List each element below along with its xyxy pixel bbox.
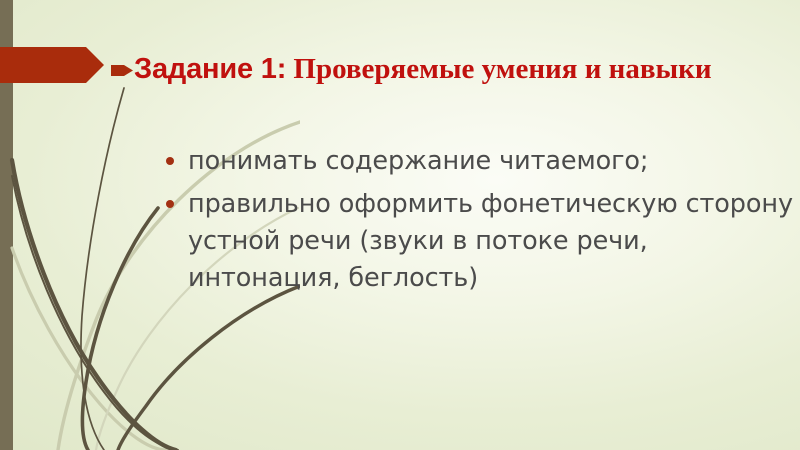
title-task-label: Задание 1: xyxy=(134,53,286,85)
title-arrow-bullet-icon xyxy=(111,63,133,78)
title-banner-arrow xyxy=(0,47,104,83)
bullet-dot-icon xyxy=(166,200,174,208)
content-bullet-list: понимать содержание читаемого; правильно… xyxy=(163,143,793,303)
list-item: правильно оформить фонетическую сторону … xyxy=(163,186,793,297)
title-subject-label: Проверяемые умения и навыки xyxy=(286,53,711,85)
list-item-text: понимать содержание читаемого; xyxy=(188,143,793,180)
list-item: понимать содержание читаемого; xyxy=(163,143,793,180)
page-title: Задание 1: Проверяемые умения и навыки xyxy=(134,50,784,85)
presentation-slide: Задание 1: Проверяемые умения и навыки п… xyxy=(0,0,800,450)
list-item-text: правильно оформить фонетическую сторону … xyxy=(188,186,793,297)
bullet-dot-icon xyxy=(166,157,174,165)
